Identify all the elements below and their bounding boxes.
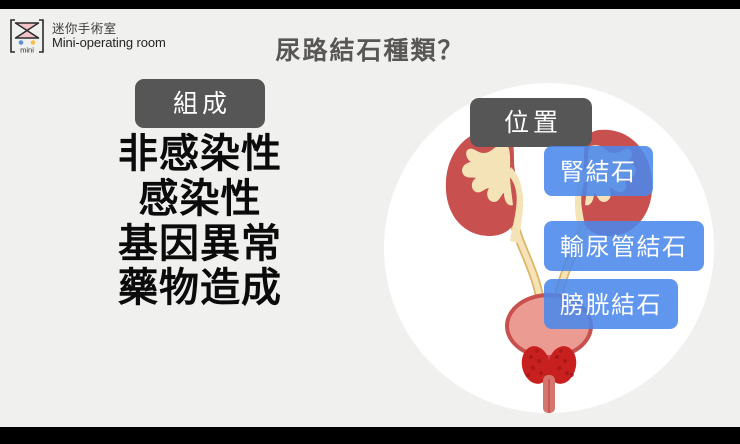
composition-section: 組成 非感染性 感染性 基因異常 藥物造成 [55, 79, 345, 311]
composition-list: 非感染性 感染性 基因異常 藥物造成 [55, 132, 345, 311]
callout-bladder-stone: 膀胱結石 [544, 279, 678, 329]
callout-ureter-stone: 輸尿管結石 [544, 221, 704, 271]
letterbox-bottom [0, 427, 740, 444]
letterbox-top [0, 0, 740, 9]
composition-heading-badge: 組成 [135, 79, 265, 128]
list-item: 基因異常 [55, 222, 345, 267]
list-item: 藥物造成 [55, 266, 345, 311]
slide-stage: mini 迷你手術室 Mini-operating room 尿路結石種類？ 組… [0, 0, 740, 444]
slide-canvas: mini 迷你手術室 Mini-operating room 尿路結石種類？ 組… [0, 9, 740, 427]
location-heading-badge: 位置 [470, 98, 592, 147]
callout-kidney-stone: 腎結石 [544, 146, 653, 196]
list-item: 非感染性 [55, 132, 345, 177]
list-item: 感染性 [55, 177, 345, 222]
location-section: 位置 腎結石 輸尿管結石 膀胱結石 [372, 21, 722, 411]
